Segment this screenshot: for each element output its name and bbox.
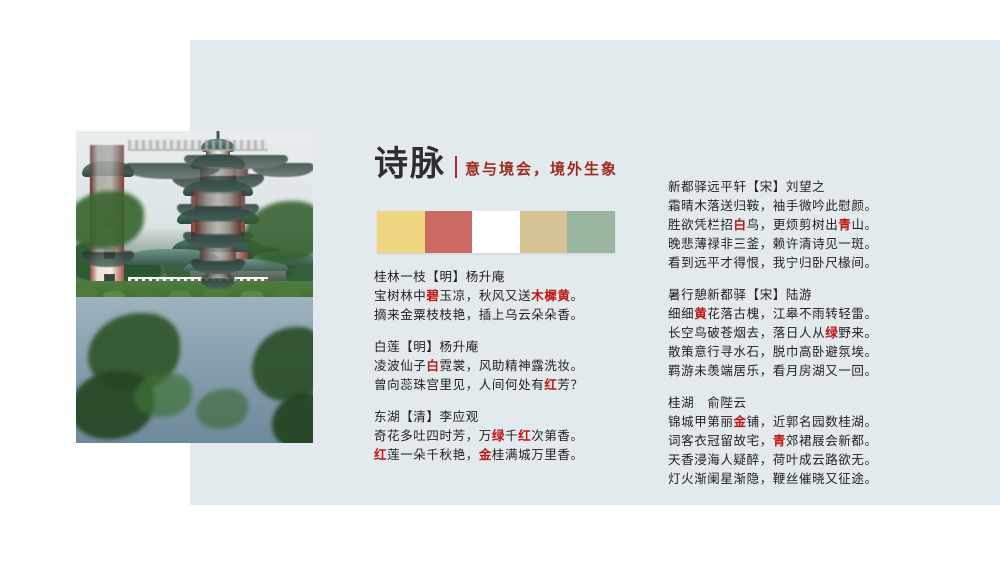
highlighted-word: 绿 xyxy=(492,429,505,443)
poem-line: 长空鸟破苍烟去，落日人从绿野来。 xyxy=(668,324,968,343)
poem-text-run: 桂林一枝【明】杨升庵 xyxy=(374,270,505,284)
poem-title-author: 暑行憩新都驿【宋】陆游 xyxy=(668,286,968,305)
poem-block: 桂林一枝【明】杨升庵宝树林中碧玉凉，秋风又送木樨黄。摘来金粟枝枝艳，插上乌云朵朵… xyxy=(374,268,644,325)
highlighted-word: 金 xyxy=(734,415,747,429)
poem-column-left: 桂林一枝【明】杨升庵宝树林中碧玉凉，秋风又送木樨黄。摘来金粟枝枝艳，插上乌云朵朵… xyxy=(374,268,644,478)
poem-text-run: 白莲【明】杨升庵 xyxy=(374,340,479,354)
poem-text-run: 宝树林中 xyxy=(374,289,426,303)
pagoda-eave xyxy=(191,259,245,274)
poem-text-run: 铺，近郭名园数桂湖。 xyxy=(747,415,878,429)
poem-text-run: 灯火渐阑星渐隐，鞭丝催晓又征途。 xyxy=(668,472,878,486)
poem-text-run: 曾向蕊珠宫里见，人间何处有 xyxy=(374,378,544,392)
pagoda-storey xyxy=(191,190,245,206)
poem-line: 天香浸海人疑醉，荷叶成云路欲无。 xyxy=(668,451,968,470)
pagoda-eave xyxy=(177,204,259,221)
poem-text-run: 莲一朵千秋艳， xyxy=(387,448,479,462)
poem-text-run: 郊裙屐会新都。 xyxy=(786,434,878,448)
title-main-text: 诗脉 xyxy=(374,148,446,182)
poem-title-author: 新都驿远平轩【宋】刘望之 xyxy=(668,178,968,197)
highlighted-word: 青 xyxy=(773,434,786,448)
poem-text-run: 散策意行寻水石，脱巾高卧避氛埃。 xyxy=(668,345,878,359)
slide-canvas: 诗脉 意与境会，境外生象 桂林一枝【明】杨升庵宝树林中碧玉凉，秋风又送木樨黄。摘… xyxy=(0,0,1000,567)
pagoda-storey xyxy=(195,219,241,234)
poem-block: 桂湖 俞陛云锦城甲第丽金铺，近郭名园数桂湖。词客衣冠留故宅，青郊裙屐会新都。天香… xyxy=(668,394,968,489)
swatch-tan xyxy=(520,211,568,253)
highlighted-word: 白 xyxy=(426,359,439,373)
side-tower-roof xyxy=(82,251,134,267)
poem-line: 细细黄花落古槐，江皋不雨转轻雷。 xyxy=(668,305,968,324)
poem-line: 宝树林中碧玉凉，秋风又送木樨黄。 xyxy=(374,287,644,306)
poem-column-right: 新都驿远平轩【宋】刘望之霜晴木落送归鞍，袖手微吟此慰颜。胜欲凭栏招白鸟，更烦剪树… xyxy=(668,178,968,502)
poem-title-author: 桂林一枝【明】杨升庵 xyxy=(374,268,644,287)
poem-line: 摘来金粟枝枝艳，插上乌云朵朵香。 xyxy=(374,306,644,325)
poem-text-run: 细细 xyxy=(668,307,694,321)
poem-text-run: 羁游未羡端居乐，看月房湖又一回。 xyxy=(668,364,878,378)
poem-text-run: 锦城甲第丽 xyxy=(668,415,734,429)
poem-text-run: 桂湖 俞陛云 xyxy=(668,396,747,410)
poem-line: 霜晴木落送归鞍，袖手微吟此慰颜。 xyxy=(668,197,968,216)
pagoda-storey xyxy=(200,246,236,261)
poem-text-run: 山。 xyxy=(851,218,877,232)
photo-content xyxy=(76,131,313,443)
poem-line: 词客衣冠留故宅，青郊裙屐会新都。 xyxy=(668,432,968,451)
swatch-yellow xyxy=(377,211,425,253)
page-title: 诗脉 意与境会，境外生象 xyxy=(374,148,618,182)
poem-text-run: 暑行憩新都驿【宋】陆游 xyxy=(668,288,812,302)
swatch-white xyxy=(472,211,520,253)
poem-block: 暑行憩新都驿【宋】陆游细细黄花落古槐，江皋不雨转轻雷。长空鸟破苍烟去，落日人从绿… xyxy=(668,286,968,381)
poem-block: 新都驿远平轩【宋】刘望之霜晴木落送归鞍，袖手微吟此慰颜。胜欲凭栏招白鸟，更烦剪树… xyxy=(668,178,968,273)
swatch-green xyxy=(567,211,615,253)
poem-text-run: 霜晴木落送归鞍，袖手微吟此慰颜。 xyxy=(668,199,878,213)
poem-title-author: 东湖【清】李应观 xyxy=(374,408,644,427)
poem-text-run: 词客衣冠留故宅， xyxy=(668,434,773,448)
pagoda-eave xyxy=(183,232,253,248)
poem-text-run: 玉凉，秋风又送 xyxy=(440,289,532,303)
poem-text-run: 看到远平才得恨，我宁归卧尺椽间。 xyxy=(668,256,878,270)
poem-line: 凌波仙子白霓裳，风助精神露洗妆。 xyxy=(374,357,644,376)
highlighted-word: 金 xyxy=(479,448,492,462)
poem-text-run: 东湖【清】李应观 xyxy=(374,410,479,424)
highlighted-word: 红 xyxy=(544,378,557,392)
swatch-red xyxy=(425,211,473,253)
poem-line: 灯火渐阑星渐隐，鞭丝催晓又征途。 xyxy=(668,470,968,489)
title-divider xyxy=(455,156,457,178)
poem-line: 奇花多吐四时芳，万绿千红次第香。 xyxy=(374,427,644,446)
poem-title-author: 桂湖 俞陛云 xyxy=(668,394,968,413)
pagoda-photo xyxy=(76,131,313,443)
poem-line: 晚悲薄禄非三釜，赖许清诗见一斑。 xyxy=(668,235,968,254)
poem-text-run: 摘来金粟枝枝艳，插上乌云朵朵香。 xyxy=(374,308,584,322)
highlighted-word: 红 xyxy=(374,448,387,462)
reflected-railing xyxy=(128,140,268,151)
poem-text-run: 胜欲凭栏招 xyxy=(668,218,734,232)
highlighted-word: 碧 xyxy=(426,289,439,303)
poem-block: 东湖【清】李应观奇花多吐四时芳，万绿千红次第香。红莲一朵千秋艳，金桂满城万里香。 xyxy=(374,408,644,465)
poem-line: 锦城甲第丽金铺，近郭名园数桂湖。 xyxy=(668,413,968,432)
highlighted-word: 红 xyxy=(518,429,531,443)
poem-line: 羁游未羡端居乐，看月房湖又一回。 xyxy=(668,362,968,381)
poem-text-run: 奇花多吐四时芳，万 xyxy=(374,429,492,443)
poem-text-run: 野来。 xyxy=(838,326,877,340)
poem-line: 散策意行寻水石，脱巾高卧避氛埃。 xyxy=(668,343,968,362)
highlighted-word: 绿 xyxy=(825,326,838,340)
poem-text-run: 凌波仙子 xyxy=(374,359,426,373)
highlighted-word: 白 xyxy=(734,218,747,232)
poem-text-run: 花落古槐，江皋不雨转轻雷。 xyxy=(707,307,877,321)
poem-line: 红莲一朵千秋艳，金桂满城万里香。 xyxy=(374,446,644,465)
poem-text-run: 千 xyxy=(505,429,518,443)
color-palette-strip xyxy=(377,211,615,253)
poem-text-run: 桂满城万里香。 xyxy=(492,448,584,462)
poem-text-run: 长空鸟破苍烟去，落日人从 xyxy=(668,326,825,340)
poem-line: 看到远平才得恨，我宁归卧尺椽间。 xyxy=(668,254,968,273)
poem-line: 胜欲凭栏招白鸟，更烦剪树出青山。 xyxy=(668,216,968,235)
poem-block: 白莲【明】杨升庵凌波仙子白霓裳，风助精神露洗妆。曾向蕊珠宫里见，人间何处有红芳？ xyxy=(374,338,644,395)
poem-text-run: 霓裳，风助精神露洗妆。 xyxy=(440,359,584,373)
poem-title-author: 白莲【明】杨升庵 xyxy=(374,338,644,357)
poem-line: 曾向蕊珠宫里见，人间何处有红芳？ xyxy=(374,376,644,395)
poem-text-run: 晚悲薄禄非三釜，赖许清诗见一斑。 xyxy=(668,237,878,251)
poem-text-run: 芳？ xyxy=(557,378,583,392)
poem-text-run: 天香浸海人疑醉，荷叶成云路欲无。 xyxy=(668,453,878,467)
highlighted-word: 青 xyxy=(838,218,851,232)
poem-text-run: 鸟，更烦剪树出 xyxy=(747,218,839,232)
poem-text-run: 次第香。 xyxy=(531,429,583,443)
poem-text-run: 。 xyxy=(571,289,584,303)
highlighted-word: 木樨黄 xyxy=(531,289,570,303)
highlighted-word: 黄 xyxy=(694,307,707,321)
title-subtitle-text: 意与境会，境外生象 xyxy=(465,163,618,182)
poem-text-run: 新都驿远平轩【宋】刘望之 xyxy=(668,180,825,194)
